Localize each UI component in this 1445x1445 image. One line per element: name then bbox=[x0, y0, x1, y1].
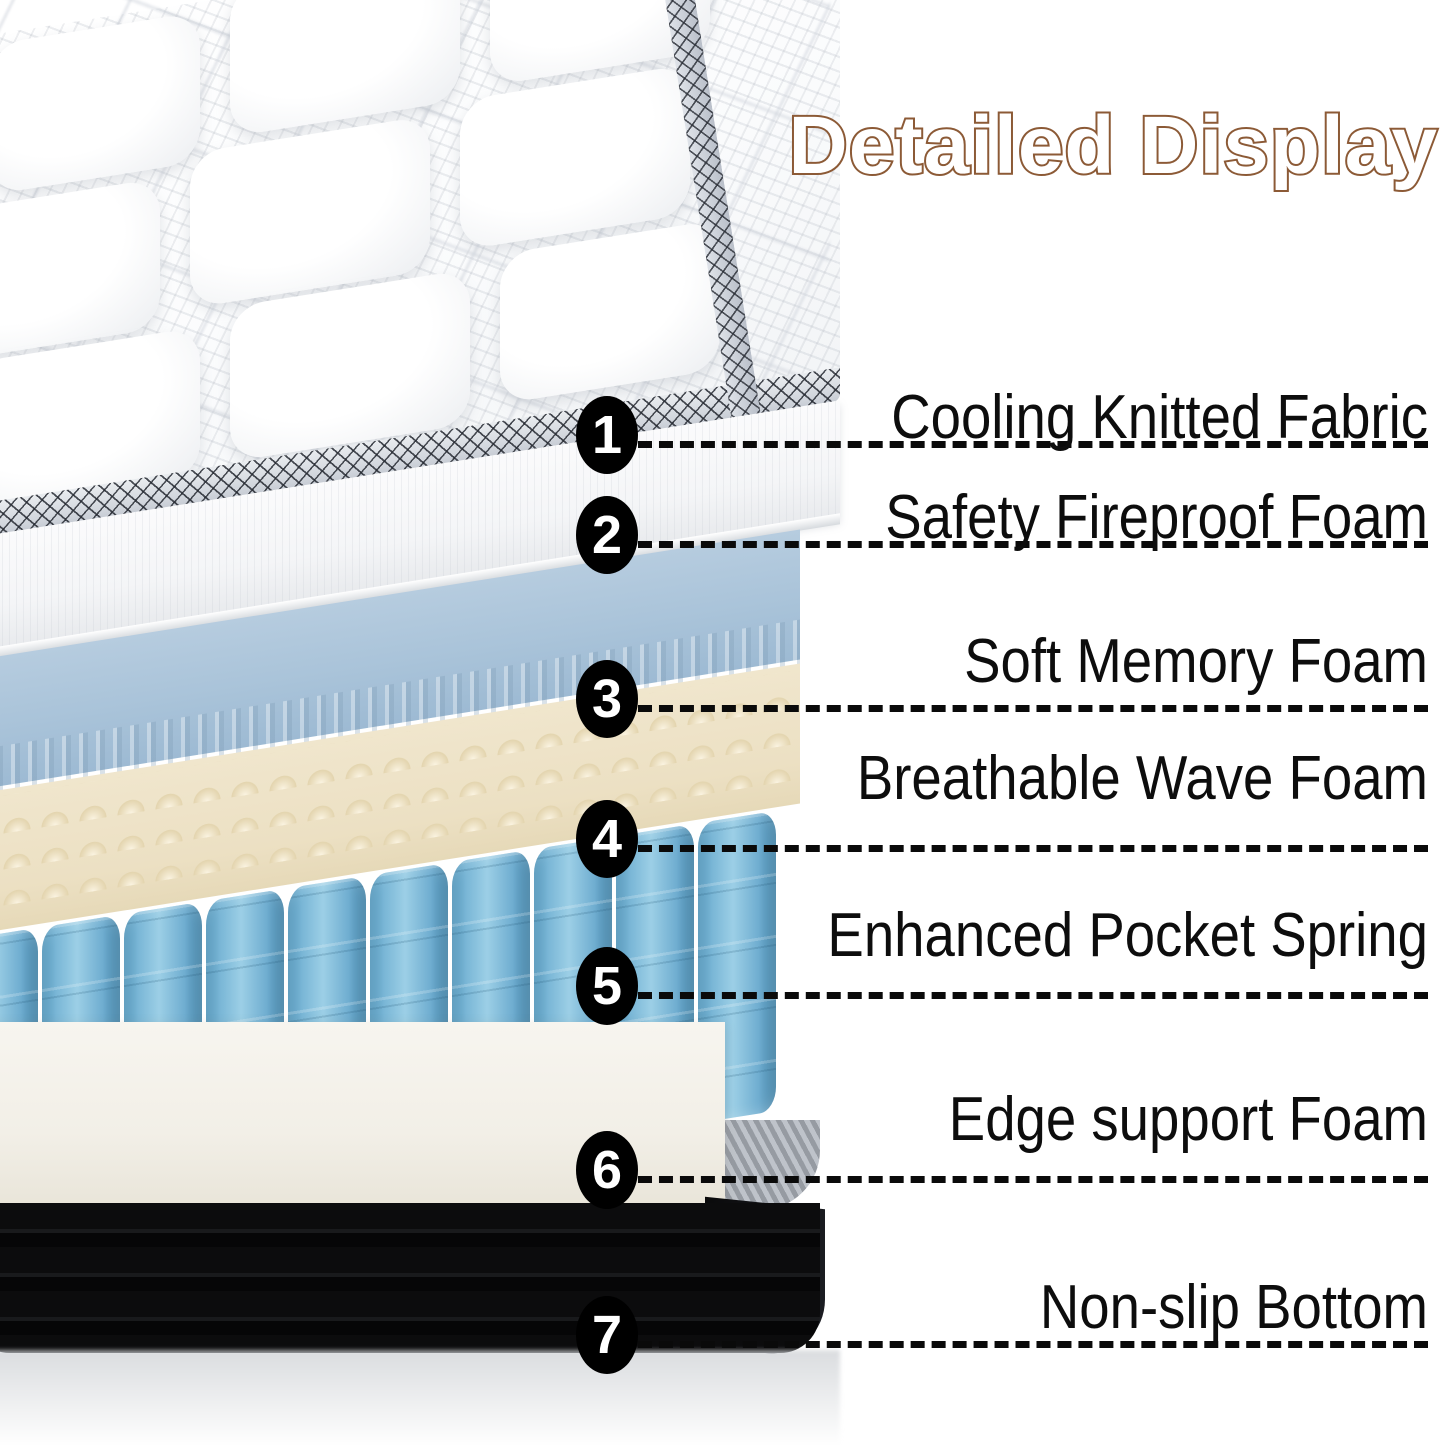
callout-number-badge: 7 bbox=[576, 1296, 638, 1374]
callout-label: Enhanced Pocket Spring bbox=[787, 903, 1428, 969]
detailed-display-infographic: Detailed Display 1 Cooling Knitted Fabri… bbox=[0, 0, 1445, 1445]
callout-leader-line bbox=[638, 1341, 1428, 1348]
callout-number-badge: 1 bbox=[576, 396, 638, 474]
callout-leader-line bbox=[638, 705, 1428, 712]
floor-reflection bbox=[0, 1350, 840, 1445]
callout-label: Soft Memory Foam bbox=[787, 629, 1428, 695]
callout-number-badge: 6 bbox=[576, 1131, 638, 1209]
callout-label: Non-slip Bottom bbox=[787, 1275, 1428, 1341]
callout-label: Breathable Wave Foam bbox=[787, 746, 1428, 812]
callout-label: Safety Fireproof Foam bbox=[787, 485, 1428, 551]
callout-label: Edge support Foam bbox=[787, 1087, 1428, 1153]
callout-leader-line bbox=[638, 1176, 1428, 1183]
page-title: Detailed Display bbox=[668, 96, 1438, 196]
callout-number-badge: 5 bbox=[576, 947, 638, 1025]
callout-label: Cooling Knitted Fabric bbox=[787, 385, 1428, 451]
callout-leader-line bbox=[638, 992, 1428, 999]
callout-number-badge: 4 bbox=[576, 800, 638, 878]
callout-number-badge: 3 bbox=[576, 660, 638, 738]
callout-leader-line bbox=[638, 845, 1428, 852]
callout-number-badge: 2 bbox=[576, 496, 638, 574]
layer-non-slip-bottom bbox=[0, 1203, 820, 1353]
